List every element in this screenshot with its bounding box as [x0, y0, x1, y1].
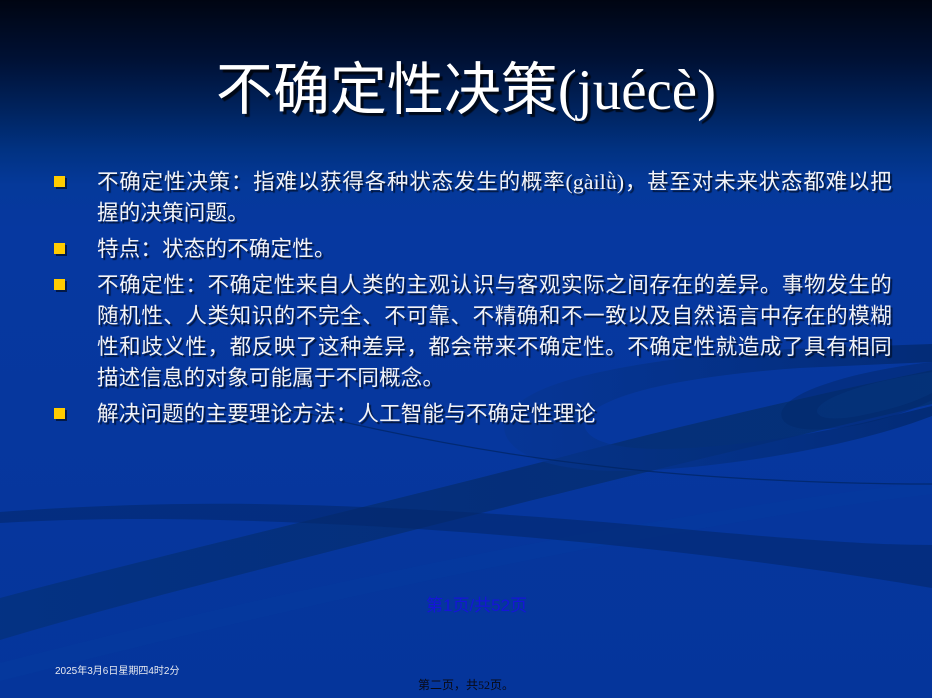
bullet-text: 解决问题的主要理论方法：人工智能与不确定性理论 [97, 399, 892, 430]
square-bullet-icon [54, 176, 65, 187]
bullet-item: 不确定性决策：指难以获得各种状态发生的概率(gàilǜ)，甚至对未来状态都难以把… [44, 167, 892, 229]
slide-title: 不确定性决策(juécè) [0, 55, 932, 127]
square-bullet-icon [54, 279, 65, 290]
bullet-text: 特点：状态的不确定性。 [97, 234, 892, 265]
swoosh-ribbon-lower [0, 482, 932, 681]
bullet-item: 不确定性：不确定性来自人类的主观认识与客观实际之间存在的差异。事物发生的随机性、… [44, 270, 892, 394]
square-bullet-icon [54, 408, 65, 419]
bullet-text: 不确定性：不确定性来自人类的主观认识与客观实际之间存在的差异。事物发生的随机性、… [97, 270, 892, 394]
page-number-footer: 第二页，共52页。 [0, 677, 932, 693]
bullet-item: 解决问题的主要理论方法：人工智能与不确定性理论 [44, 399, 892, 430]
bullet-item: 特点：状态的不确定性。 [44, 234, 892, 265]
square-bullet-icon [54, 243, 65, 254]
bullet-text: 不确定性决策：指难以获得各种状态发生的概率(gàilǜ)，甚至对未来状态都难以把… [97, 167, 892, 229]
page-counter-watermark: 第1页/共52页 [426, 596, 527, 616]
presentation-slide: 不确定性决策(juécè) 不确定性决策：指难以获得各种状态发生的概率(gàil… [0, 0, 932, 698]
swoosh-wedge-right [0, 504, 932, 588]
bullet-list: 不确定性决策：指难以获得各种状态发生的概率(gàilǜ)，甚至对未来状态都难以把… [44, 167, 892, 435]
